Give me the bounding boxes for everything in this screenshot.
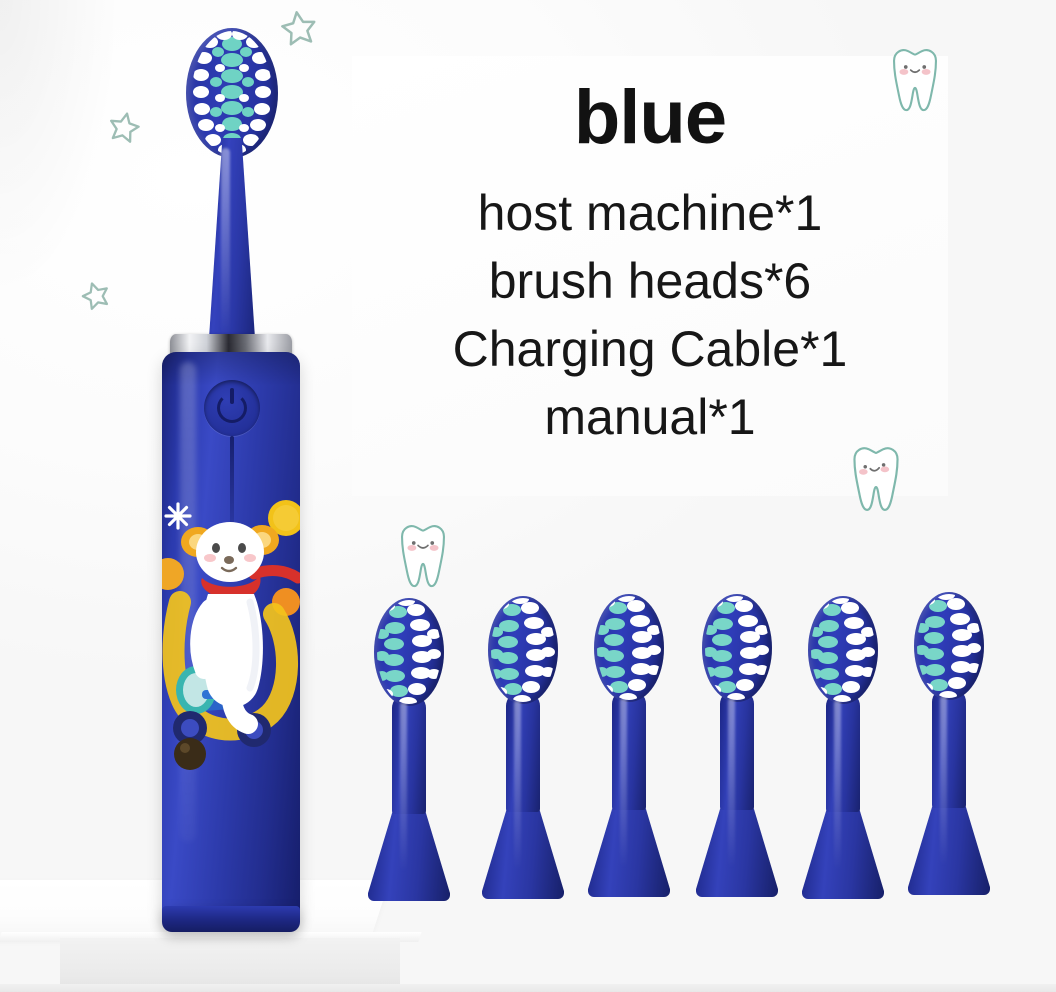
spec-item-manual: manual*1 xyxy=(453,383,848,451)
brush-head-6 xyxy=(900,592,996,902)
brush-head-4-base xyxy=(696,799,778,897)
brush-head-1 xyxy=(360,598,456,908)
handle-bottom-cap xyxy=(162,906,300,932)
brush-head-1-oval xyxy=(374,598,444,706)
spec-item-brush-heads: brush heads*6 xyxy=(453,247,848,315)
brush-head-3-highlight xyxy=(620,698,627,868)
brush-head-2-base xyxy=(482,801,564,899)
tooth-mascot-icon-mid-left xyxy=(392,522,454,601)
background-vignette xyxy=(0,0,120,300)
brush-head-5 xyxy=(794,596,890,906)
brush-head-4 xyxy=(688,594,784,904)
host-machine-toothbrush xyxy=(122,8,342,938)
brush-head-4-neck xyxy=(720,690,754,810)
main-brush-neck xyxy=(208,138,256,353)
package-contents-list: host machine*1 brush heads*6 Charging Ca… xyxy=(453,179,848,451)
brush-head-1-base xyxy=(368,803,450,901)
brush-head-5-highlight xyxy=(834,700,841,870)
cartoon-bear-scooter-artwork xyxy=(162,482,300,822)
brush-head-3-base xyxy=(588,799,670,897)
brush-head-1-neck xyxy=(392,694,426,814)
brush-head-6-oval xyxy=(914,592,984,700)
brush-head-2 xyxy=(474,596,570,906)
brush-head-3-neck xyxy=(612,690,646,810)
brush-head-3-oval xyxy=(594,594,664,702)
brush-head-6-base xyxy=(908,797,990,895)
brush-head-1-highlight xyxy=(400,702,407,872)
brush-head-6-neck xyxy=(932,688,966,808)
brush-head-4-highlight xyxy=(728,698,735,868)
brush-head-6-highlight xyxy=(940,696,947,866)
product-image-canvas: blue host machine*1 brush heads*6 Chargi… xyxy=(0,0,1056,992)
product-info-panel: blue host machine*1 brush heads*6 Chargi… xyxy=(352,56,948,496)
brush-head-5-base xyxy=(802,801,884,899)
brush-head-5-oval xyxy=(808,596,878,704)
brush-head-3 xyxy=(580,594,676,904)
brush-head-2-neck xyxy=(506,692,540,812)
power-icon-stem xyxy=(230,388,234,404)
product-title: blue xyxy=(574,70,726,165)
spec-item-charging-cable: Charging Cable*1 xyxy=(453,315,848,383)
spec-item-host-machine: host machine*1 xyxy=(453,179,848,247)
floor-line xyxy=(0,984,1056,992)
main-brush-neck-highlight xyxy=(221,148,230,338)
brush-head-2-highlight xyxy=(514,700,521,870)
brush-head-4-oval xyxy=(702,594,772,702)
main-brush-handle-body xyxy=(162,352,300,922)
brush-head-2-oval xyxy=(488,596,558,704)
brush-head-5-neck xyxy=(826,692,860,812)
